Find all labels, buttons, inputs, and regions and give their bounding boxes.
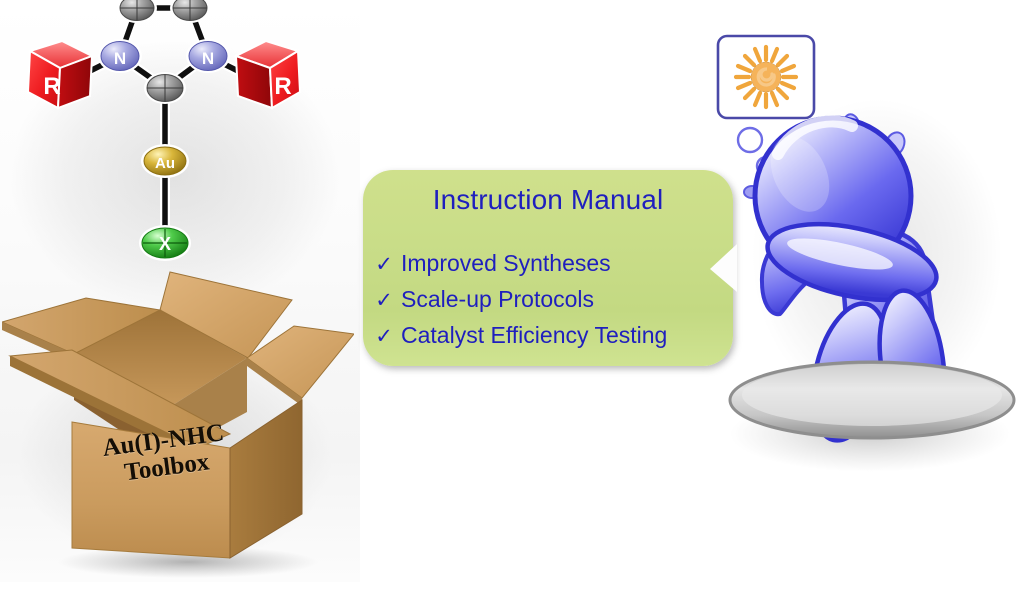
check-icon: ✓: [375, 320, 393, 354]
svg-text:Au: Au: [155, 155, 175, 172]
instruction-manual-bubble: Instruction Manual ✓ Improved Syntheses …: [363, 170, 733, 366]
carbene-carbon-atom: [144, 72, 186, 104]
r-group-right-cube: R: [236, 41, 300, 108]
svg-text:R: R: [43, 73, 60, 100]
graphical-abstract: R R: [0, 0, 1032, 590]
nitrogen-left-atom: N: [98, 39, 142, 73]
list-item: ✓ Catalyst Efficiency Testing: [375, 318, 725, 354]
backbone-carbon-left: [117, 0, 157, 23]
au-i-nhc-molecule-diagram: R R: [0, 0, 330, 276]
list-item-label: Improved Syntheses: [401, 246, 611, 280]
backbone-carbon-right: [170, 0, 210, 23]
thinking-person-figure: [700, 14, 1032, 484]
list-item: ✓ Improved Syntheses: [375, 246, 725, 282]
check-icon: ✓: [375, 248, 393, 282]
bubble-title: Instruction Manual: [363, 184, 733, 216]
svg-text:R: R: [274, 73, 291, 100]
check-icon: ✓: [375, 284, 393, 318]
list-item-label: Catalyst Efficiency Testing: [401, 318, 667, 352]
bubble-feature-list: ✓ Improved Syntheses ✓ Scale-up Protocol…: [375, 246, 725, 354]
r-group-left-cube: R: [28, 41, 92, 108]
figure-platform: [730, 362, 1014, 438]
svg-text:N: N: [202, 49, 214, 68]
list-item-label: Scale-up Protocols: [401, 282, 594, 316]
gold-atom: Au: [141, 144, 189, 178]
cardboard-toolbox: Au(I)-NHC Toolbox: [2, 262, 354, 578]
nitrogen-right-atom: N: [186, 39, 230, 73]
list-item: ✓ Scale-up Protocols: [375, 282, 725, 318]
svg-text:X: X: [159, 234, 171, 254]
svg-text:N: N: [114, 49, 126, 68]
halide-x-atom: X: [139, 225, 191, 261]
sun-idea-icon: [736, 47, 796, 107]
